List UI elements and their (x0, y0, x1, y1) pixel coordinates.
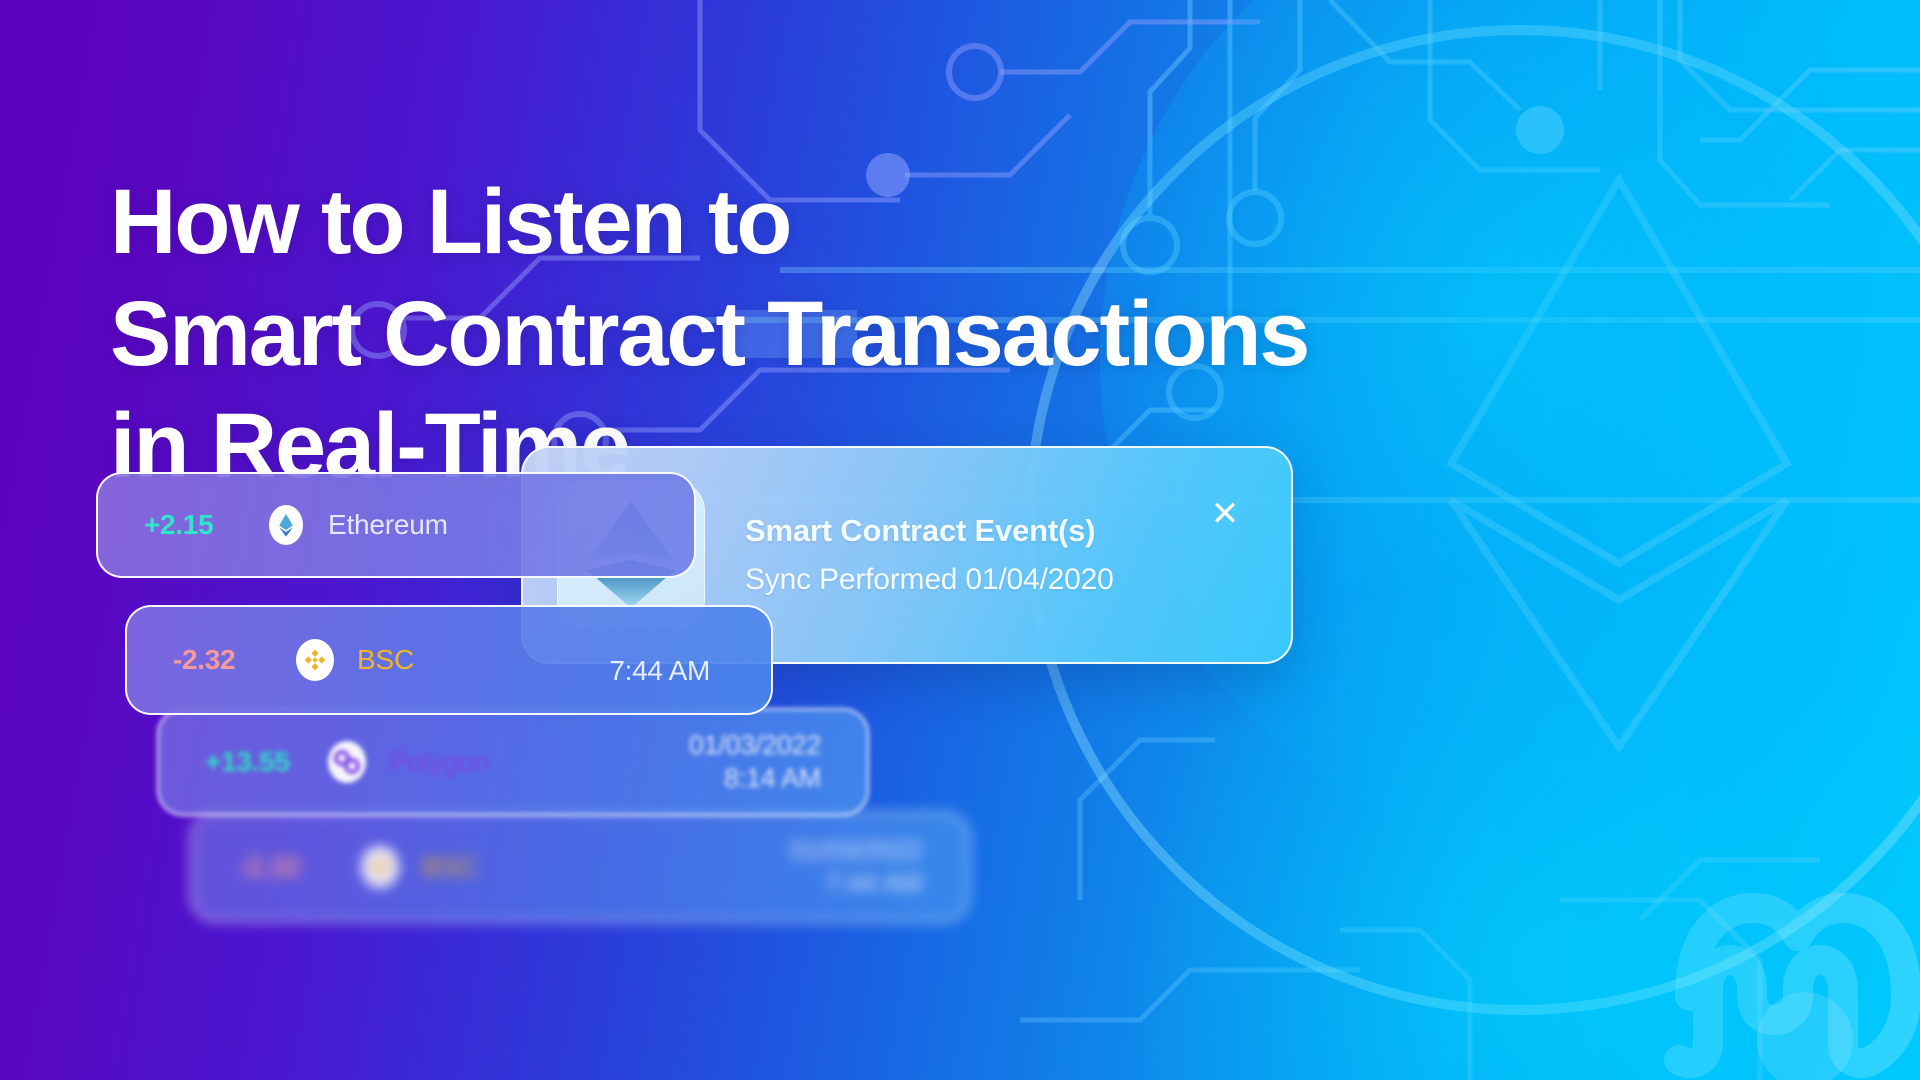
token-delta: -2.32 (173, 644, 293, 676)
token-row[interactable]: +13.55 Polygon 01/03/2022 8:14 AM (157, 708, 869, 816)
headline-line-2: Smart Contract Transactions (110, 278, 1470, 390)
notification-title: Smart Contract Event(s) (745, 512, 1257, 549)
token-row[interactable]: +2.15 Ethereum (96, 472, 696, 578)
token-time: 7:44 AM (825, 868, 922, 898)
close-icon[interactable]: ✕ (1205, 494, 1245, 534)
notification-subtitle: Sync Performed 01/04/2020 (745, 562, 1257, 598)
token-row[interactable]: -2.32 BSC 01/03/2022 7:44 AM (190, 812, 970, 922)
polygon-icon (325, 740, 369, 784)
hero-banner: How to Listen to Smart Contract Transact… (0, 0, 1920, 1080)
token-time: 7:44 AM (560, 655, 710, 687)
token-delta: +13.55 (205, 746, 325, 778)
notification-text: Smart Contract Event(s) Sync Performed 0… (745, 512, 1257, 597)
token-name: Ethereum (328, 509, 648, 541)
binance-icon (358, 845, 402, 889)
token-delta: -2.32 (238, 851, 358, 883)
token-delta: +2.15 (144, 509, 264, 541)
token-date: 01/03/2022 (790, 835, 922, 865)
binance-icon (293, 638, 337, 682)
token-name: Polygon (389, 746, 689, 778)
ethereum-watermark-icon (1451, 180, 1787, 747)
token-time: 8:14 AM (724, 763, 821, 793)
headline-line-1: How to Listen to (110, 166, 1470, 278)
moralis-logo-watermark-icon (1679, 908, 1906, 1063)
token-timestamp: 01/03/2022 7:44 AM (790, 834, 922, 900)
token-name: BSC (422, 851, 790, 883)
token-timestamp: 01/03/2022 8:14 AM (689, 729, 821, 795)
token-date: 01/03/2022 (689, 730, 821, 760)
ethereum-icon (264, 503, 308, 547)
